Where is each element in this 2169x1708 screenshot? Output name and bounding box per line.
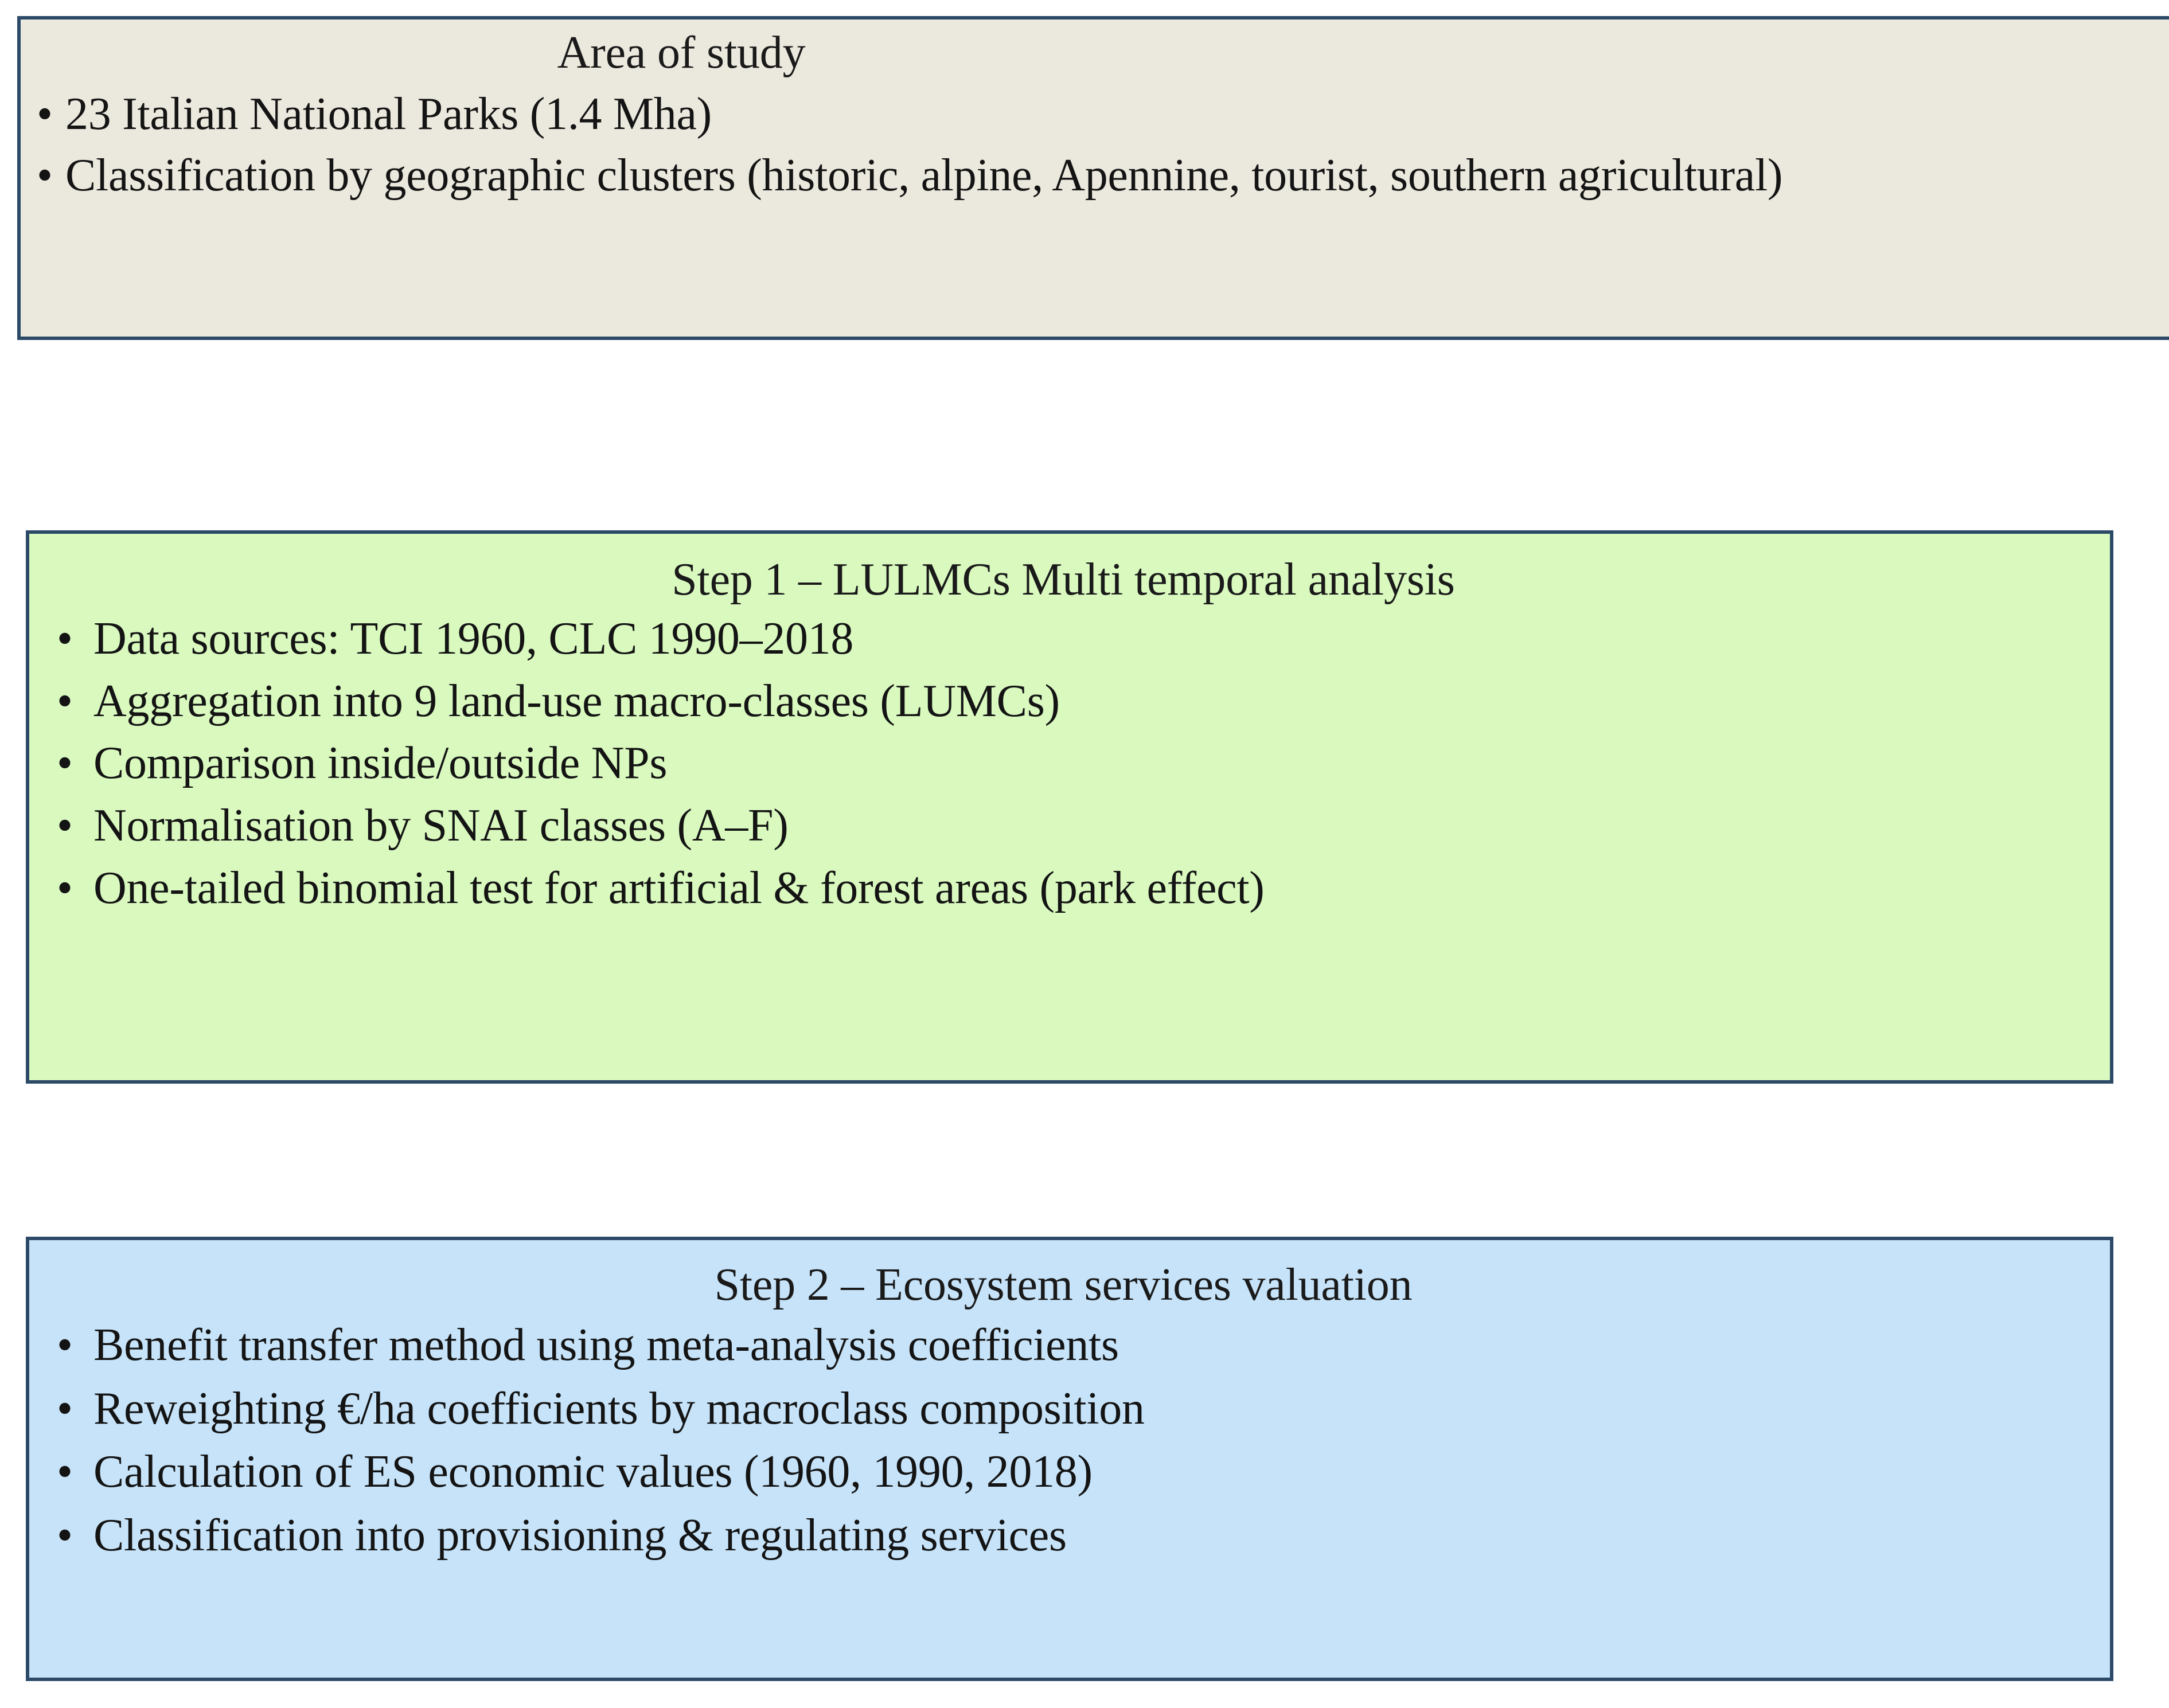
box-title-step-2: Step 2 – Ecosystem services valuation xyxy=(29,1240,2110,1310)
bullet-dot-icon: • xyxy=(57,1443,73,1501)
bullet-list-area-of-study: • 23 Italian National Parks (1.4 Mha) • … xyxy=(21,85,2169,205)
bullet-dot-icon: • xyxy=(57,734,73,792)
list-item-label: Calculation of ES economic values (1960,… xyxy=(93,1443,2110,1501)
bullet-list-step-2: • Benefit transfer method using meta-ana… xyxy=(29,1316,2110,1565)
list-item-label: Aggregation into 9 land-use macro-classe… xyxy=(93,673,2110,730)
list-item-label: Comparison inside/outside NPs xyxy=(93,734,2110,792)
list-item: • Reweighting €/ha coefficients by macro… xyxy=(29,1380,2110,1438)
list-item-label: Data sources: TCI 1960, CLC 1990–2018 xyxy=(93,610,2110,668)
bullet-dot-icon: • xyxy=(57,1507,73,1565)
list-item-label: Normalisation by SNAI classes (A–F) xyxy=(93,797,2110,855)
list-item: • One-tailed binomial test for artificia… xyxy=(29,859,2110,917)
list-item: • Aggregation into 9 land-use macro-clas… xyxy=(29,673,2110,730)
flow-box-step-2: Step 2 – Ecosystem services valuation • … xyxy=(26,1237,2113,1681)
bullet-dot-icon: • xyxy=(37,85,53,143)
list-item: • Normalisation by SNAI classes (A–F) xyxy=(29,797,2110,855)
list-item-label: Benefit transfer method using meta-analy… xyxy=(93,1316,2110,1374)
bullet-dot-icon: • xyxy=(37,147,53,205)
bullet-dot-icon: • xyxy=(57,1316,73,1374)
bullet-dot-icon: • xyxy=(57,859,73,917)
list-item: • Comparison inside/outside NPs xyxy=(29,734,2110,792)
bullet-list-step-1: • Data sources: TCI 1960, CLC 1990–2018 … xyxy=(29,610,2110,917)
box-title-step-1: Step 1 – LULMCs Multi temporal analysis xyxy=(29,534,2110,604)
list-item: • 23 Italian National Parks (1.4 Mha) xyxy=(21,85,2169,143)
list-item: • Calculation of ES economic values (196… xyxy=(29,1443,2110,1501)
bullet-dot-icon: • xyxy=(57,1380,73,1438)
list-item-label: Classification into provisioning & regul… xyxy=(93,1507,2110,1565)
list-item-label: One-tailed binomial test for artificial … xyxy=(93,859,2110,917)
flow-box-step-1: Step 1 – LULMCs Multi temporal analysis … xyxy=(26,530,2113,1084)
bullet-dot-icon: • xyxy=(57,610,73,668)
list-item: • Benefit transfer method using meta-ana… xyxy=(29,1316,2110,1374)
list-item-label: 23 Italian National Parks (1.4 Mha) xyxy=(65,85,2156,143)
list-item: • Classification by geographic clusters … xyxy=(21,147,2169,205)
list-item-label: Classification by geographic clusters (h… xyxy=(65,147,2156,205)
bullet-dot-icon: • xyxy=(57,673,73,730)
box-title-area-of-study: Area of study xyxy=(21,19,2169,77)
list-item: • Classification into provisioning & reg… xyxy=(29,1507,2110,1565)
list-item: • Data sources: TCI 1960, CLC 1990–2018 xyxy=(29,610,2110,668)
bullet-dot-icon: • xyxy=(57,797,73,855)
list-item-label: Reweighting €/ha coefficients by macrocl… xyxy=(93,1380,2110,1438)
flow-box-area-of-study: Area of study • 23 Italian National Park… xyxy=(17,16,2169,340)
